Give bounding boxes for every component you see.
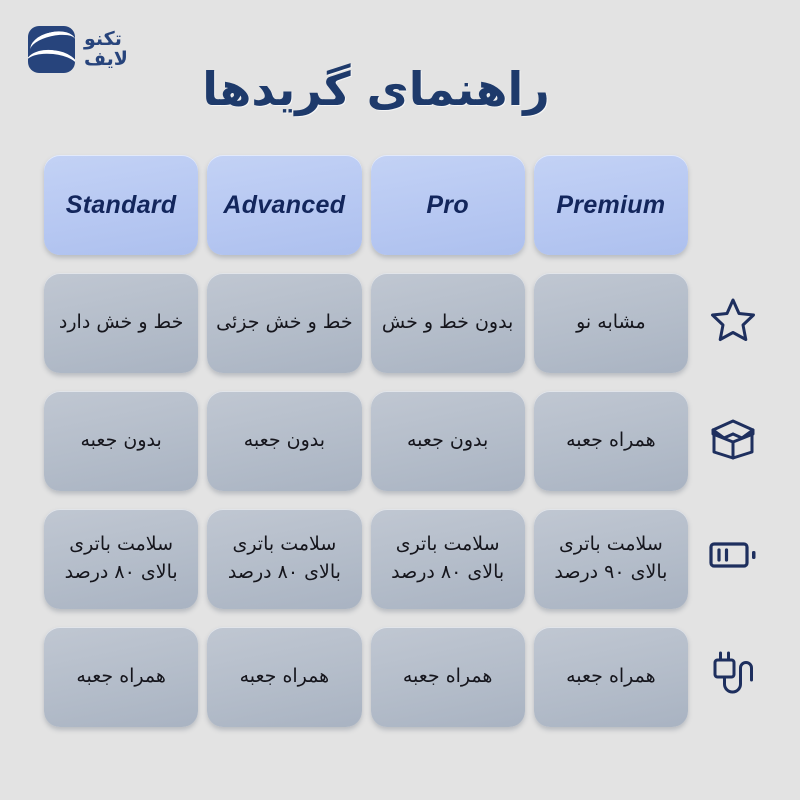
spec-cell: بدون خط و خش bbox=[371, 273, 525, 373]
spec-cell: سلامت باتریبالای ۹۰ درصد bbox=[534, 509, 688, 609]
spec-cell: همراه جعبه bbox=[534, 391, 688, 491]
grade-header-advanced[interactable]: Advanced bbox=[207, 155, 361, 255]
star-icon bbox=[706, 292, 760, 346]
spec-cell: بدون جعبه bbox=[207, 391, 361, 491]
grade-comparison-grid: StandardAdvancedProPremiumخط و خش داردخط… bbox=[44, 155, 688, 727]
grade-header-pro[interactable]: Pro bbox=[371, 155, 525, 255]
spec-cell: سلامت باتریبالای ۸۰ درصد bbox=[207, 509, 361, 609]
spec-cell: همراه جعبه bbox=[534, 627, 688, 727]
spec-cell: خط و خش جزئی bbox=[207, 273, 361, 373]
grade-header-standard[interactable]: Standard bbox=[44, 155, 198, 255]
battery-icon bbox=[706, 528, 760, 582]
spec-cell: مشابه نو bbox=[534, 273, 688, 373]
brand-name-line-1: تکنو bbox=[84, 30, 122, 50]
spec-cell: همراه جعبه bbox=[371, 627, 525, 727]
spec-cell: سلامت باتریبالای ۸۰ درصد bbox=[371, 509, 525, 609]
grade-header-premium[interactable]: Premium bbox=[534, 155, 688, 255]
spec-cell: بدون جعبه bbox=[371, 391, 525, 491]
spec-cell: همراه جعبه bbox=[44, 627, 198, 727]
spec-cell: بدون جعبه bbox=[44, 391, 198, 491]
spec-cell: خط و خش دارد bbox=[44, 273, 198, 373]
spec-cell: همراه جعبه bbox=[207, 627, 361, 727]
page-title: راهنمای گریدها bbox=[0, 62, 800, 116]
spec-cell: سلامت باتریبالای ۸۰ درصد bbox=[44, 509, 198, 609]
open-box-icon bbox=[706, 410, 760, 464]
power-plug-icon bbox=[706, 646, 760, 700]
